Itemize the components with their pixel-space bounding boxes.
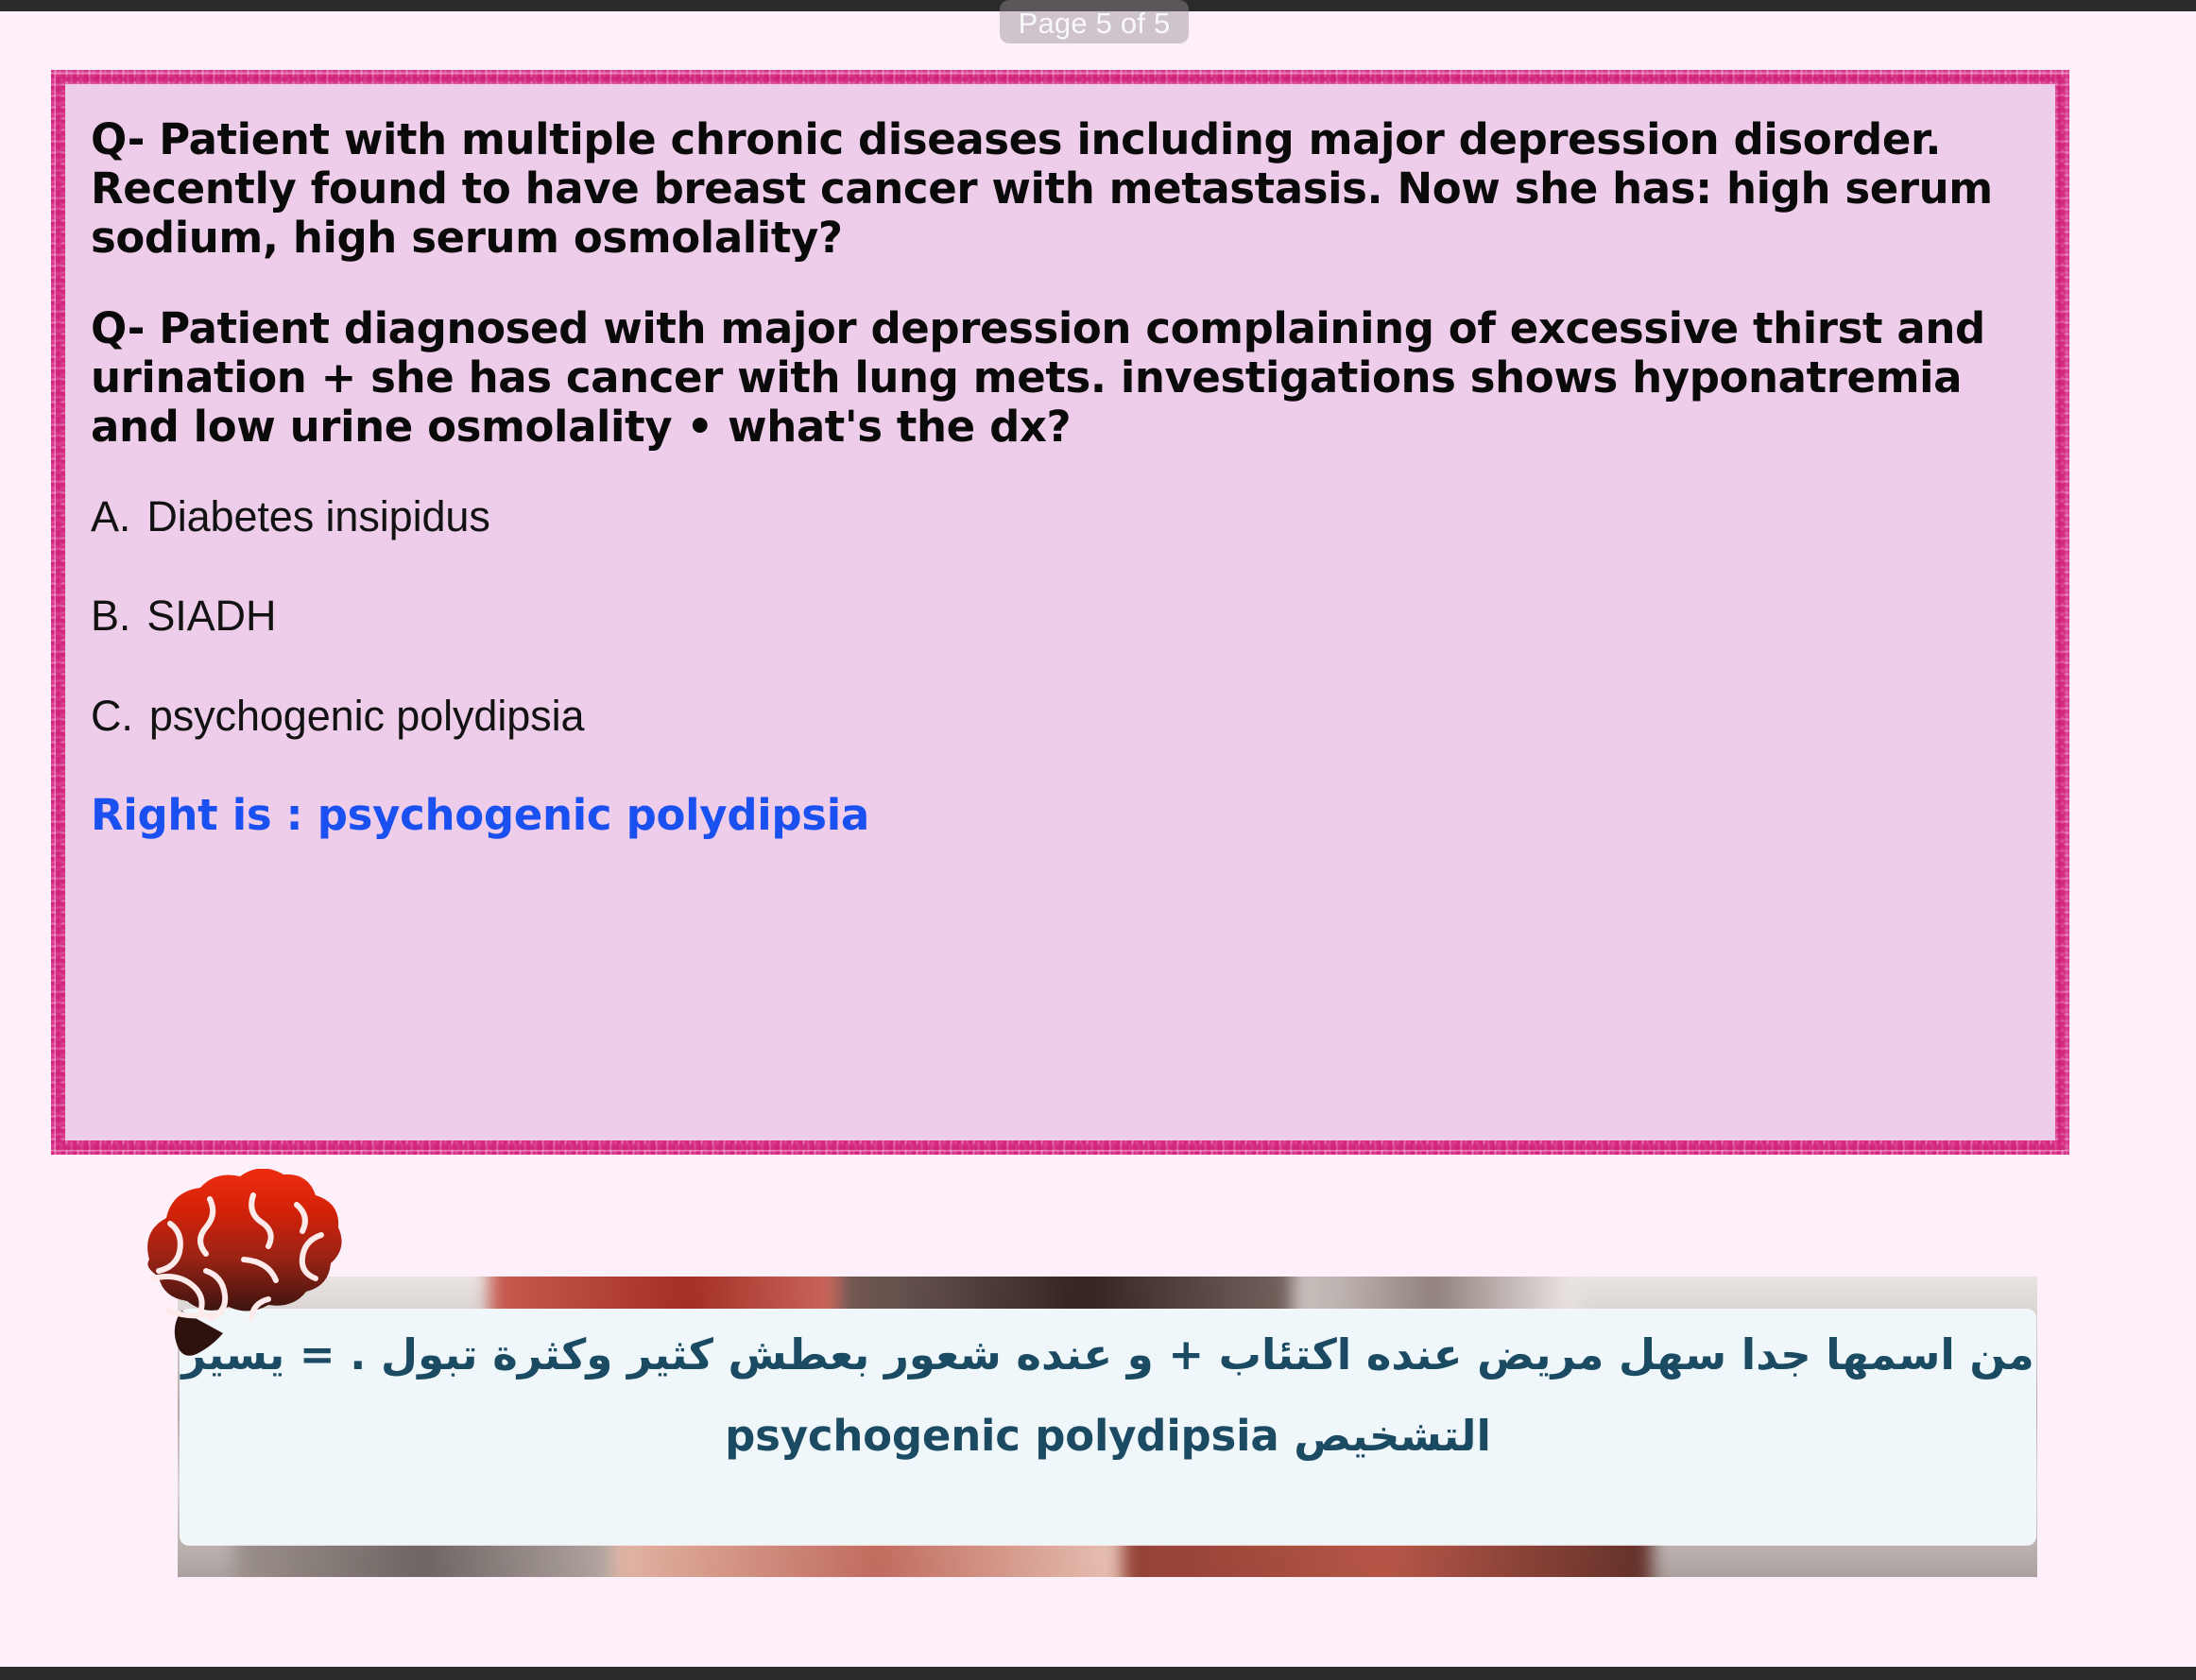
mnemonic-line-1: من اسمها جدا سهل مريض عنده اكتئاب + و عن… — [180, 1329, 2036, 1380]
mnemonic-line-2: التشخيص psychogenic polydipsia — [180, 1411, 2036, 1461]
mnemonic-note-card: من اسمها جدا سهل مريض عنده اكتئاب + و عن… — [180, 1309, 2036, 1545]
option-b-label: SIADH — [146, 591, 276, 640]
question-paragraph-1: Q- Patient with multiple chronic disease… — [91, 115, 2024, 263]
question-paragraph-2: Q- Patient diagnosed with major depressi… — [91, 304, 2024, 452]
option-c-label: psychogenic polydipsia — [149, 692, 585, 740]
option-a-label: Diabetes insipidus — [146, 492, 489, 540]
option-c-letter: C. — [91, 692, 133, 740]
question-content: Q- Patient with multiple chronic disease… — [91, 115, 2024, 839]
page-indicator-label: Page 5 of 5 — [1019, 9, 1171, 38]
option-b[interactable]: B.SIADH — [91, 592, 2024, 640]
correct-answer-text: Right is : psychogenic polydipsia — [91, 792, 2024, 839]
slide-viewer: Page 5 of 5 Q- Patient with multiple chr… — [0, 0, 2196, 1680]
page-indicator-badge: Page 5 of 5 — [1000, 0, 1189, 43]
mnemonic-card-group: من اسمها جدا سهل مريض عنده اكتئاب + و عن… — [0, 1186, 2196, 1583]
option-b-letter: B. — [91, 591, 130, 640]
question-box: Q- Patient with multiple chronic disease… — [64, 83, 2056, 1141]
viewer-bottom-bar — [0, 1667, 2196, 1680]
option-a-letter: A. — [91, 492, 130, 540]
option-a[interactable]: A.Diabetes insipidus — [91, 493, 2024, 540]
brain-icon — [112, 1169, 355, 1367]
option-c[interactable]: C.psychogenic polydipsia — [91, 693, 2024, 740]
